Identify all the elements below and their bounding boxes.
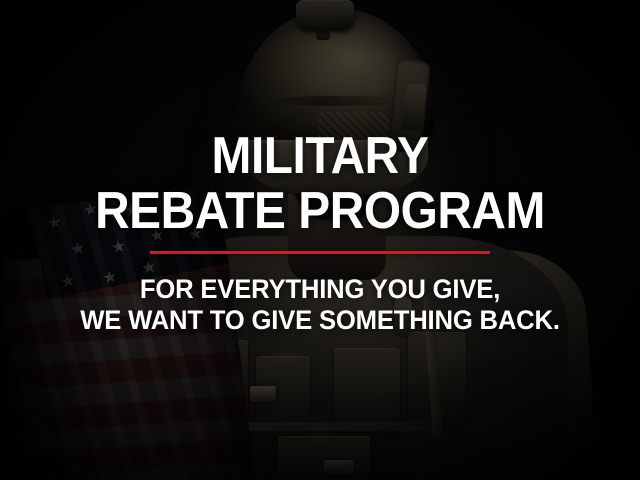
subheadline-line-1: FOR EVERYTHING YOU GIVE, [16, 274, 624, 305]
headline-line-2: REBATE PROGRAM [26, 186, 615, 237]
red-divider-rule [150, 251, 490, 254]
headline-line-1: MILITARY [26, 131, 615, 182]
text-overlay: MILITARY REBATE PROGRAM FOR EVERYTHING Y… [0, 0, 640, 480]
subheadline: FOR EVERYTHING YOU GIVE, WE WANT TO GIVE… [16, 274, 624, 336]
headline: MILITARY REBATE PROGRAM [26, 0, 615, 238]
subheadline-line-2: WE WANT TO GIVE SOMETHING BACK. [16, 305, 624, 336]
military-rebate-banner: ★ ★ ★ ★ ★ ★ ★ ★ ★ ★ ★ MILITARY REBATE PR… [0, 0, 640, 480]
